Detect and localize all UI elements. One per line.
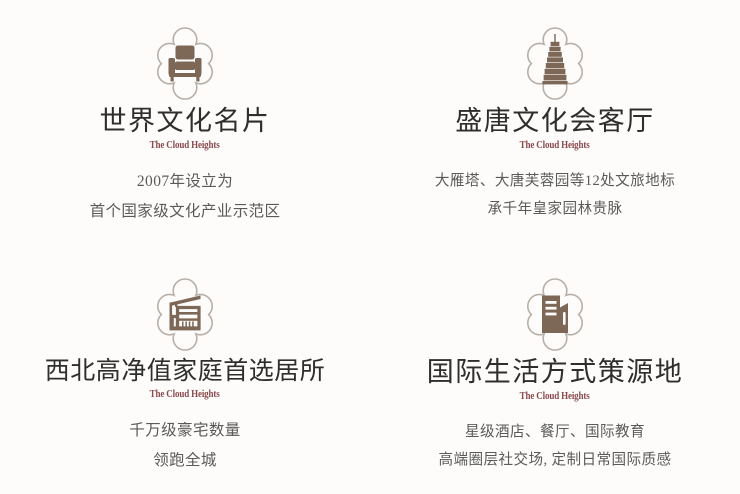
pagoda-icon <box>512 20 598 106</box>
feature-card-luxury-residence: 西北高净值家庭首选居所 The Cloud Heights 千万级豪宅数量 领跑… <box>0 247 370 494</box>
card-tagline: The Cloud Heights <box>520 391 590 402</box>
villa-icon <box>142 271 228 357</box>
card-description-line: 高端圈层社交场, 定制日常国际质感 <box>438 446 671 474</box>
card-description-line: 承千年皇家园林贵脉 <box>435 195 675 223</box>
card-description-line: 领跑全城 <box>129 446 240 476</box>
feature-card-tang-culture: 盛唐文化会客厅 The Cloud Heights 大雁塔、大唐芙蓉园等12处文… <box>370 0 740 247</box>
card-description: 大雁塔、大唐芙蓉园等12处文旅地标 承千年皇家园林贵脉 <box>435 167 675 224</box>
card-headline: 西北高净值家庭首选居所 <box>45 357 326 387</box>
city-buildings-icon <box>512 271 598 357</box>
armchair-icon <box>142 20 228 106</box>
card-tagline: The Cloud Heights <box>150 389 220 400</box>
feature-grid: 世界文化名片 The Cloud Heights 2007年设立为 首个国家级文… <box>0 0 740 494</box>
card-description-line: 首个国家级文化产业示范区 <box>90 197 281 227</box>
card-description-line: 千万级豪宅数量 <box>129 416 240 446</box>
card-description: 2007年设立为 首个国家级文化产业示范区 <box>90 167 281 227</box>
card-tagline: The Cloud Heights <box>150 140 220 151</box>
card-description-line: 2007年设立为 <box>90 167 281 197</box>
feature-card-world-culture: 世界文化名片 The Cloud Heights 2007年设立为 首个国家级文… <box>0 0 370 247</box>
card-headline: 国际生活方式策源地 <box>427 357 684 389</box>
card-description: 千万级豪宅数量 领跑全城 <box>129 416 240 476</box>
card-description-line: 大雁塔、大唐芙蓉园等12处文旅地标 <box>435 167 675 195</box>
card-headline: 世界文化名片 <box>100 106 271 138</box>
card-headline: 盛唐文化会客厅 <box>455 106 655 138</box>
card-description-line: 星级酒店、餐厅、国际教育 <box>438 418 671 446</box>
feature-card-international-lifestyle: 国际生活方式策源地 The Cloud Heights 星级酒店、餐厅、国际教育… <box>370 247 740 494</box>
card-tagline: The Cloud Heights <box>520 140 590 151</box>
card-description: 星级酒店、餐厅、国际教育 高端圈层社交场, 定制日常国际质感 <box>438 418 671 475</box>
